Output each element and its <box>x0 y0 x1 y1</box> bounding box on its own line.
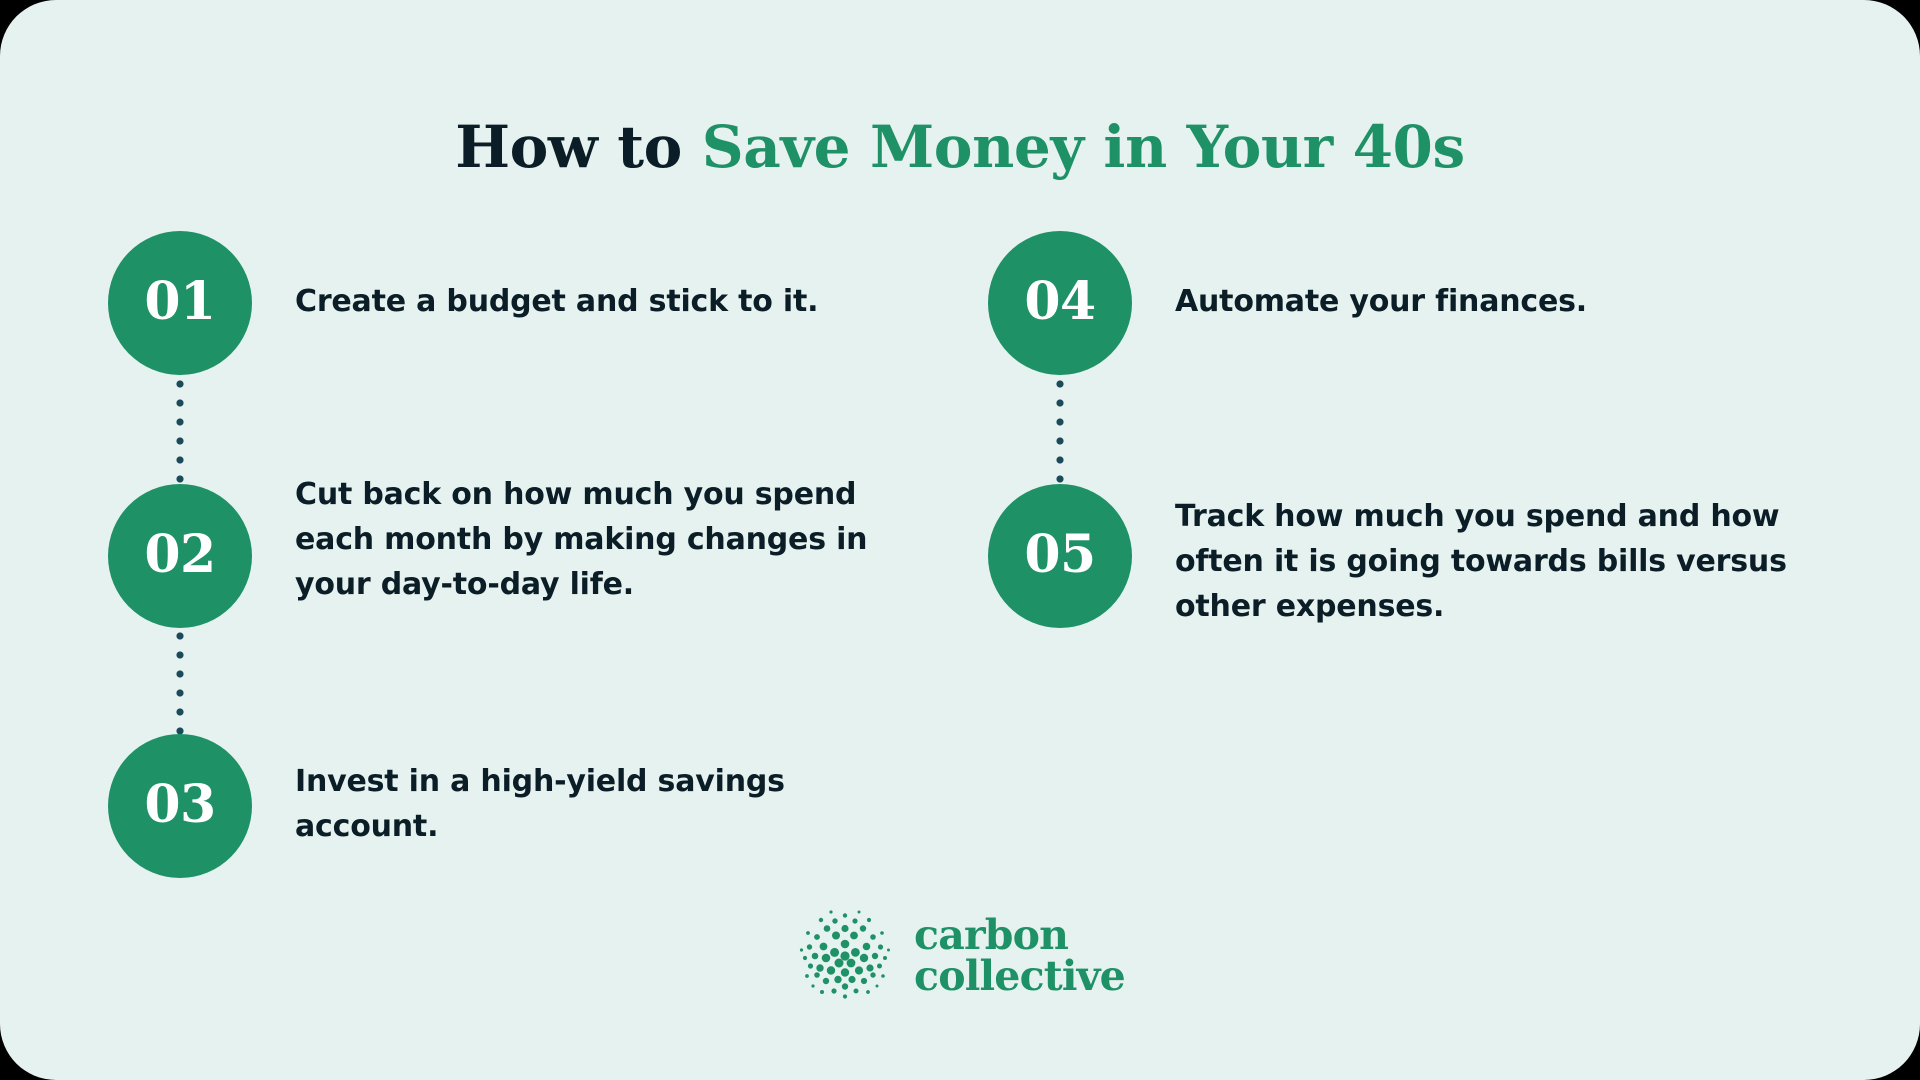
step-item-02: 02 Cut back on how much you spend each m… <box>108 484 915 628</box>
step-badge-02: 02 <box>108 484 252 628</box>
step-item-01: 01 Create a budget and stick to it. <box>108 231 915 375</box>
step-number-05: 05 <box>1024 529 1095 581</box>
step-item-05: 05 Track how much you spend and how ofte… <box>988 484 1835 629</box>
brand-logo-line-2: collective <box>914 956 1125 997</box>
brand-logo-line-1: carbon <box>914 915 1125 956</box>
brand-logo: carbon collective <box>0 906 1920 1006</box>
step-text-04: Automate your finances. <box>1175 279 1835 324</box>
step-number-01: 01 <box>144 276 215 328</box>
title-part-green: Save Money in Your 40s <box>702 113 1465 181</box>
step-text-02: Cut back on how much you spend each mont… <box>295 472 915 607</box>
step-item-04: 04 Automate your finances. <box>988 231 1835 375</box>
step-text-03: Invest in a high-yield savings account. <box>295 759 915 849</box>
carbon-collective-dot-cluster-icon <box>795 906 895 1006</box>
infographic-card: How to Save Money in Your 40s 01 Create … <box>0 0 1920 1080</box>
step-text-01: Create a budget and stick to it. <box>295 279 915 324</box>
page-title: How to Save Money in Your 40s <box>0 117 1920 178</box>
step-badge-01: 01 <box>108 231 252 375</box>
title-part-dark: How to <box>455 113 701 181</box>
step-badge-04: 04 <box>988 231 1132 375</box>
step-badge-03: 03 <box>108 734 252 878</box>
step-item-03: 03 Invest in a high-yield savings accoun… <box>108 734 915 878</box>
step-number-02: 02 <box>144 529 215 581</box>
step-number-03: 03 <box>144 779 215 831</box>
step-text-05: Track how much you spend and how often i… <box>1175 494 1835 629</box>
step-number-04: 04 <box>1024 276 1095 328</box>
step-badge-05: 05 <box>988 484 1132 628</box>
brand-logo-wordmark: carbon collective <box>914 915 1125 997</box>
